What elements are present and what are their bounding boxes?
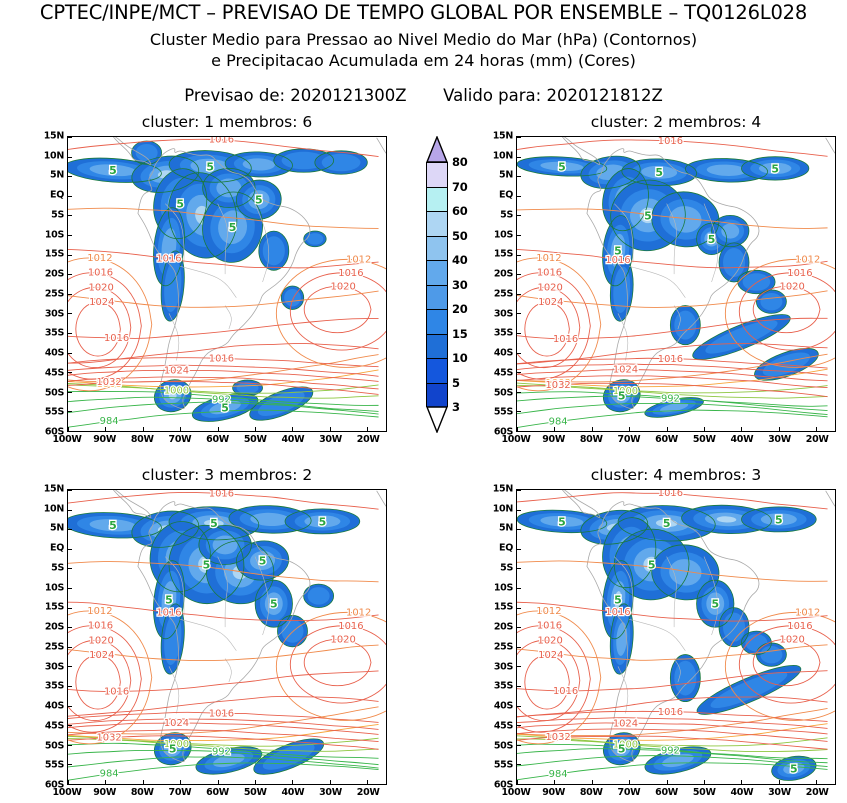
isobar [525,302,570,356]
y-axis-tick-label: 30S [494,308,513,319]
subtitle-line-2: e Precipitacao Acumulada em 24 horas (mm… [0,51,847,70]
isobar-value-label: 1016 [787,268,812,279]
isobar-value-label: 1016 [553,334,578,345]
x-axis-tick [218,427,219,431]
y-axis-tick [68,137,72,138]
precip-level-label: 5 [259,554,267,567]
y-axis-tick-label: 20S [494,269,513,280]
precip-level-label: 5 [558,160,566,173]
x-axis-tick-label: 70W [169,434,192,445]
y-axis-tick [517,333,521,334]
x-axis-tick-label: 100W [52,787,81,798]
y-axis-tick-label: 5N [499,170,513,181]
y-axis-tick-label: 50S [45,387,64,398]
x-axis-tick [68,427,69,431]
x-axis-tick [517,427,518,431]
y-axis-tick-label: 15N [493,484,513,495]
x-axis-tick-label: 40W [281,434,304,445]
precip-level-label: 5 [614,594,622,607]
x-axis-tick [105,780,106,784]
coastline [826,491,835,584]
y-axis-tick-label: 25S [494,641,513,652]
y-axis-tick [517,627,521,628]
isobar-value-label: 1020 [780,281,805,292]
isobar-value-label: 1016 [156,254,181,265]
colorbar-cell [427,384,447,409]
y-axis-tick [68,529,72,530]
x-axis-tick [255,427,256,431]
x-axis-tick [741,780,742,784]
isobar-value-label: 984 [549,416,568,427]
coastline [826,138,835,231]
x-axis-tick [629,780,630,784]
precip-level-label: 5 [618,390,626,403]
isobar-value-label: 1024 [538,297,563,308]
y-axis-tick [68,333,72,334]
y-axis-tick-label: 5N [50,170,64,181]
isobar [68,602,379,620]
x-axis-tick-label: 40W [730,434,753,445]
y-axis-tick [517,274,521,275]
x-axis-tick [218,780,219,784]
y-axis-tick [68,431,72,432]
isobar-value-label: 1012 [346,254,371,265]
y-axis-tick [517,706,521,707]
x-axis-tick-label: 80W [580,434,603,445]
panel-title-2: cluster: 2 membros: 4 [516,113,836,131]
country-border [180,266,236,297]
y-axis-tick [517,745,521,746]
precip-level-label: 5 [663,517,671,530]
x-axis-tick-label: 70W [618,787,641,798]
map-canvas-2[interactable]: 9849921000100810161024103210241020101610… [516,136,836,432]
precip-contour-fill [721,224,739,239]
precipitation-colorbar: 80706050403020151053 [426,136,448,432]
precip-level-label: 5 [270,598,278,611]
colorbar-tick-label: 80 [452,155,468,169]
y-axis-tick-label: 20S [494,622,513,633]
x-axis-tick [180,427,181,431]
y-axis-tick [68,215,72,216]
x-axis-tick [255,780,256,784]
x-axis-tick-label: 50W [244,434,267,445]
country-border [225,306,231,330]
x-axis-tick-label: 50W [693,434,716,445]
isobar-value-label: 984 [100,769,119,780]
y-axis-tick-label: 40S [45,348,64,359]
y-axis-tick [517,137,521,138]
isobar-value-label: 1012 [795,607,820,618]
y-axis-tick [68,157,72,158]
y-axis-tick [68,549,72,550]
y-axis-tick [517,431,521,432]
y-axis-tick-label: 15S [45,602,64,613]
panel-title-3: cluster: 3 membros: 2 [67,466,387,484]
precip-level-label: 5 [210,517,218,530]
precip-contour-fill [263,236,285,265]
y-axis-tick [517,529,521,530]
precip-contour-fill [308,587,330,604]
y-axis-tick-label: 50S [45,740,64,751]
precip-level-label: 5 [711,598,719,611]
y-axis-tick [517,235,521,236]
y-axis-tick-label: 45S [45,720,64,731]
x-axis-tick-label: 100W [52,434,81,445]
precip-level-label: 5 [221,401,229,414]
colorbar-tick-label: 15 [452,327,468,341]
colorbar-cell [427,359,447,384]
y-axis-tick-label: 35S [45,681,64,692]
y-axis-tick [68,588,72,589]
panel-title-1: cluster: 1 membros: 6 [67,113,387,131]
x-axis-tick-label: 80W [131,434,154,445]
y-axis-tick [68,176,72,177]
y-axis-tick-label: 5S [500,562,513,573]
y-axis-tick-label: 5S [51,562,64,573]
y-axis-tick [517,392,521,393]
precip-level-label: 5 [206,160,214,173]
y-axis-tick-label: 45S [494,367,513,378]
y-axis-tick-label: 5N [499,523,513,534]
isobar-value-label: 1024 [613,718,638,729]
isobar-value-label: 992 [661,746,680,757]
isobar-value-label: 1032 [97,732,122,743]
x-axis-tick [667,780,668,784]
y-axis-tick-label: 10S [45,229,64,240]
y-axis-tick-label: EQ [499,190,513,201]
colorbar-tick-label: 50 [452,229,468,243]
country-border [629,266,685,297]
precip-level-label: 5 [708,233,716,246]
y-axis-tick-label: 55S [494,760,513,771]
isobar [517,249,828,268]
isobar-value-label: 1016 [209,709,234,720]
x-axis-tick-label: 60W [206,434,229,445]
x-axis-tick-label: 90W [542,434,565,445]
y-axis-tick [517,255,521,256]
isobar-value-label: 1016 [209,137,234,146]
isobar-value-label: 992 [212,747,231,758]
precip-contour-fill [322,154,361,171]
y-axis-tick [68,313,72,314]
precip-level-label: 5 [229,221,237,234]
isobar-value-label: 1016 [658,707,683,718]
y-axis-tick-label: 35S [494,328,513,339]
isobar-value-label: 1016 [658,354,683,365]
y-axis-tick-label: 25S [494,288,513,299]
x-axis-tick [816,780,817,784]
x-axis-tick-label: 20W [357,787,380,798]
x-axis-tick-label: 90W [93,787,116,798]
x-axis-tick-label: 80W [131,787,154,798]
precip-level-label: 5 [644,209,652,222]
x-axis-tick [704,427,705,431]
y-axis-tick [517,666,521,667]
precip-contour-fill [723,613,745,642]
y-axis-tick-label: 35S [45,328,64,339]
y-axis-tick-label: 15S [494,602,513,613]
map-plot-area: 9849921000100810161024103210241020101610… [517,490,835,784]
precip-level-label: 5 [203,558,211,571]
country-border [180,619,236,650]
precip-level-label: 5 [176,198,184,211]
y-axis-tick [68,255,72,256]
colorbar-tick-label: 40 [452,253,468,267]
map-panel-cluster-4[interactable]: cluster: 4 membros: 3 984992100010081016… [516,489,836,785]
y-axis-tick [517,784,521,785]
precip-level-label: 5 [109,164,117,177]
x-axis-tick [741,427,742,431]
x-axis-tick [68,780,69,784]
precip-level-label: 5 [771,162,779,175]
isobar-value-label: 1020 [89,635,114,646]
isobar-value-label: 1000 [164,386,189,397]
x-axis-tick [592,427,593,431]
isobar-value-label: 1012 [87,253,112,264]
x-axis-tick [180,780,181,784]
isobar-value-label: 1032 [546,732,571,743]
coastline [377,138,386,231]
y-axis-tick-label: 30S [45,661,64,672]
precip-level-label: 5 [790,762,798,775]
y-axis-tick [68,608,72,609]
x-axis-tick-label: 20W [357,434,380,445]
y-axis-tick-label: EQ [50,543,64,554]
isobar-value-label: 1024 [613,365,638,376]
isobar-value-label: 1024 [538,650,563,661]
isobar-value-label: 1016 [88,621,113,632]
x-axis-tick [292,780,293,784]
y-axis-tick [517,294,521,295]
isobar-value-label: 1012 [536,606,561,617]
isobar-value-label: 1016 [104,687,129,698]
precip-contour-fill [674,311,696,340]
page-title: CPTEC/INPE/MCT – PREVISAO DE TEMPO GLOBA… [0,1,847,24]
x-axis-tick-label: 70W [618,434,641,445]
y-axis-tick [68,725,72,726]
isobar-value-label: 1024 [89,297,114,308]
isobar-value-label: 984 [100,416,119,427]
map-plot-area: 9849921000100810161024103210241020101610… [68,490,386,784]
colorbar-cells [426,162,448,407]
precip-contour-fill [760,293,782,310]
y-axis-tick-label: 30S [45,308,64,319]
x-axis-tick [554,780,555,784]
y-axis-tick-label: 5S [51,209,64,220]
isobar [68,291,379,307]
y-axis-tick-label: 15S [494,249,513,260]
y-axis-tick [68,294,72,295]
x-axis-tick-label: 60W [206,787,229,798]
y-axis-tick [517,764,521,765]
precip-level-label: 5 [319,515,327,528]
y-axis-tick [68,764,72,765]
isobar-value-label: 1024 [89,650,114,661]
y-axis-tick [68,235,72,236]
isobar-value-label: 1016 [658,490,683,499]
y-axis-tick [68,411,72,412]
isobar-value-label: 1024 [164,365,189,376]
colorbar-tick-label: 20 [452,302,468,316]
y-axis-tick-label: 15S [45,249,64,260]
y-axis-tick [68,510,72,511]
isobar-value-label: 1016 [553,686,578,697]
y-axis-tick-label: EQ [499,543,513,554]
isobar-value-label: 1016 [537,268,562,279]
y-axis-tick [517,490,521,491]
x-axis-tick-label: 50W [693,787,716,798]
colorbar-arrow-top [426,136,448,163]
precip-level-label: 5 [614,245,622,258]
subtitle-line-1: Cluster Medio para Pressao ao Nivel Medi… [0,30,847,49]
x-axis-tick-label: 20W [806,434,829,445]
x-axis-tick [517,780,518,784]
x-axis-tick-label: 30W [319,434,342,445]
precip-level-label: 5 [109,519,117,532]
isobar-value-label: 1020 [331,281,356,292]
y-axis-tick [517,608,521,609]
isobar-value-label: 1016 [537,621,562,632]
map-canvas-1[interactable]: 9849921000100810161024103210241020101610… [67,136,387,432]
x-axis-tick [330,780,331,784]
colorbar-cell [427,286,447,311]
isobar-value-label: 1012 [795,254,820,265]
y-axis-tick [68,196,72,197]
precip-contour-fill [743,273,771,290]
y-axis-tick [517,196,521,197]
valid-for-label: Valido para: 2020121812Z [443,86,663,105]
isobar-value-label: 1016 [104,333,129,344]
y-axis-tick-label: 40S [494,348,513,359]
y-axis-tick [517,568,521,569]
y-axis-tick-label: 10S [494,229,513,240]
y-axis-tick-label: 10S [45,582,64,593]
y-axis-tick [68,353,72,354]
map-panel-cluster-1[interactable]: cluster: 1 membros: 6 984992100010081016… [67,136,387,432]
precip-level-label: 5 [165,594,173,607]
precip-contour-fill [760,646,782,663]
isobar [76,655,121,709]
y-axis-tick [517,510,521,511]
x-axis-tick-label: 100W [501,787,530,798]
isobar [276,259,386,367]
colorbar-tick-label: 3 [452,400,460,414]
isobar-value-label: 1016 [338,268,363,279]
forecast-time-line: Previsao de: 2020121300Z Valido para: 20… [0,86,847,105]
x-axis-tick [779,780,780,784]
x-axis-tick [367,427,368,431]
isobar-value-label: 1020 [331,634,356,645]
isobar-value-label: 1012 [346,607,371,618]
colorbar-cell [427,261,447,286]
y-axis-tick [517,157,521,158]
isobar-value-label: 1032 [546,380,571,391]
x-axis-tick [143,427,144,431]
map-panel-cluster-3[interactable]: cluster: 3 membros: 2 984992100010081016… [67,489,387,785]
y-axis-tick-label: 30S [494,661,513,672]
colorbar-cell [427,335,447,360]
y-axis-tick-label: 10N [44,150,64,161]
x-axis-tick-label: 70W [169,787,192,798]
x-axis-tick-label: 60W [655,434,678,445]
precip-level-label: 5 [169,743,177,756]
y-axis-tick-label: 15N [44,484,64,495]
y-axis-tick-label: 10S [494,582,513,593]
precip-contour-fill [284,289,301,306]
y-axis-tick-label: 35S [494,681,513,692]
colorbar-cell [427,310,447,335]
y-axis-tick [68,372,72,373]
panel-title-4: cluster: 4 membros: 3 [516,466,836,484]
y-axis-tick [517,588,521,589]
x-axis-tick [330,427,331,431]
colorbar-tick-label: 30 [452,278,468,292]
y-axis-tick [517,647,521,648]
y-axis-tick-label: 15N [493,131,513,142]
y-axis-tick [68,627,72,628]
y-axis-tick-label: 25S [45,288,64,299]
x-axis-tick [292,427,293,431]
precip-level-label: 5 [255,194,263,207]
y-axis-tick [68,490,72,491]
map-panel-cluster-2[interactable]: cluster: 2 membros: 4 984992100010081016… [516,136,836,432]
isobar-value-label: 1016 [787,621,812,632]
colorbar-tick-label: 70 [452,180,468,194]
y-axis-tick-label: 50S [494,740,513,751]
y-axis-tick-label: 45S [45,367,64,378]
map-canvas-4[interactable]: 9849921000100810161024103210241020101610… [516,489,836,785]
y-axis-tick [517,215,521,216]
y-axis-tick [68,784,72,785]
colorbar-cell [427,212,447,237]
isobar-value-label: 1012 [536,253,561,264]
isobar-value-label: 1024 [164,718,189,729]
isobar-value-label: 1032 [97,377,122,388]
colorbar-arrow-bottom [426,406,448,433]
y-axis-tick-label: EQ [50,190,64,201]
y-axis-tick-label: 50S [494,387,513,398]
y-axis-tick [517,549,521,550]
x-axis-tick [779,427,780,431]
y-axis-tick [68,274,72,275]
colorbar-tick-label: 10 [452,351,468,365]
isobar-value-label: 984 [549,769,568,780]
y-axis-tick-label: 5N [50,523,64,534]
x-axis-tick [667,427,668,431]
isobar-value-label: 1016 [338,621,363,632]
x-axis-tick-label: 30W [319,787,342,798]
isobar [76,302,121,356]
coastline [377,491,386,584]
y-axis-tick [517,686,521,687]
isobar-value-label: 1016 [605,607,630,618]
colorbar-cell [427,237,447,262]
map-plot-area: 9849921000100810161024103210241020101610… [517,137,835,431]
map-canvas-3[interactable]: 9849921000100810161024103210241020101610… [67,489,387,785]
y-axis-tick [68,568,72,569]
x-axis-tick-label: 20W [806,787,829,798]
colorbar-cell [427,188,447,213]
y-axis-tick-label: 10N [493,150,513,161]
y-axis-tick-label: 5S [500,209,513,220]
y-axis-tick [68,706,72,707]
y-axis-tick [517,725,521,726]
map-plot-area: 9849921000100810161024103210241020101610… [68,137,386,431]
isobar-value-label: 992 [661,394,680,405]
y-axis-tick-label: 20S [45,269,64,280]
y-axis-tick [68,666,72,667]
y-axis-tick-label: 10N [44,503,64,514]
